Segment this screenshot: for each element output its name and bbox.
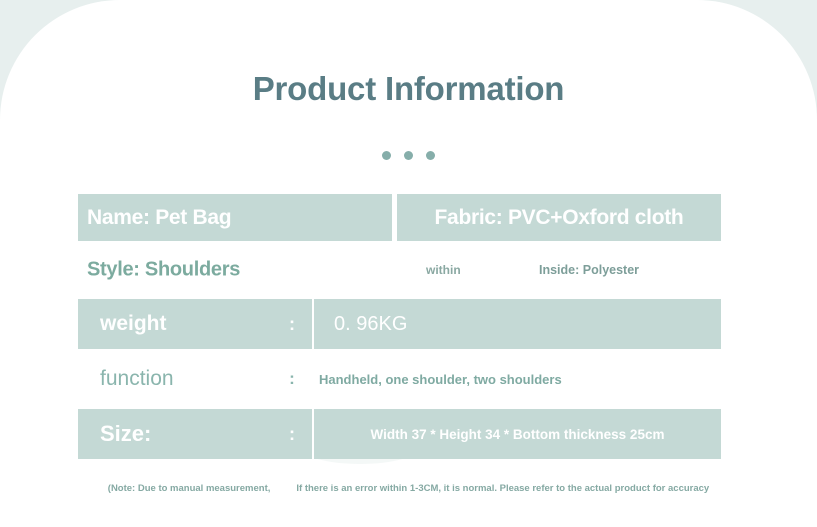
weight-label-cell: weight <box>78 312 272 336</box>
page-title: Product Information <box>0 70 817 108</box>
table-row-size: Size: : Width 37 * Height 34 * Bottom th… <box>78 409 721 459</box>
decorative-dots <box>0 151 817 160</box>
table-row-function: function : Handheld, one shoulder, two s… <box>78 354 721 404</box>
fabric-label: Fabric: PVC+Oxford cloth <box>435 206 684 230</box>
weight-value: 0. 96KG <box>314 313 721 336</box>
measurement-note-part2: If there is an error within 1-3CM, it is… <box>296 483 709 494</box>
dot-icon <box>426 151 435 160</box>
cell-fabric: Fabric: PVC+Oxford cloth <box>397 194 721 241</box>
size-separator: : <box>272 424 312 445</box>
style-within-label: within <box>426 263 461 277</box>
size-label-cell: Size: <box>78 421 272 447</box>
measurement-note: (Note: Due to manual measurement,If ther… <box>0 483 817 494</box>
style-label: Style: Shoulders <box>87 259 240 282</box>
style-inside-label: Inside: Polyester <box>539 263 639 277</box>
dot-icon <box>382 151 391 160</box>
table-row-weight: weight : 0. 96KG <box>78 299 721 349</box>
content-area: Product Information Name: Pet Bag Fabric… <box>0 0 817 527</box>
function-label: function <box>100 367 174 391</box>
size-label: Size: <box>100 421 151 447</box>
function-label-cell: function <box>78 367 272 391</box>
function-separator: : <box>272 369 312 389</box>
dot-icon <box>404 151 413 160</box>
function-value: Handheld, one shoulder, two shoulders <box>312 372 721 387</box>
product-information-page: Product Information Name: Pet Bag Fabric… <box>0 0 817 527</box>
table-row-name: Name: Pet Bag Fabric: PVC+Oxford cloth <box>78 194 721 241</box>
size-value: Width 37 * Height 34 * Bottom thickness … <box>314 427 721 442</box>
specification-table: Name: Pet Bag Fabric: PVC+Oxford cloth S… <box>78 194 721 459</box>
product-name-label: Name: Pet Bag <box>87 206 231 230</box>
weight-label: weight <box>100 312 167 336</box>
measurement-note-part1: (Note: Due to manual measurement, <box>108 483 271 494</box>
cell-product-name: Name: Pet Bag <box>78 194 392 241</box>
weight-separator: : <box>272 314 312 335</box>
table-row-style: Style: Shoulders within Inside: Polyeste… <box>78 246 721 294</box>
